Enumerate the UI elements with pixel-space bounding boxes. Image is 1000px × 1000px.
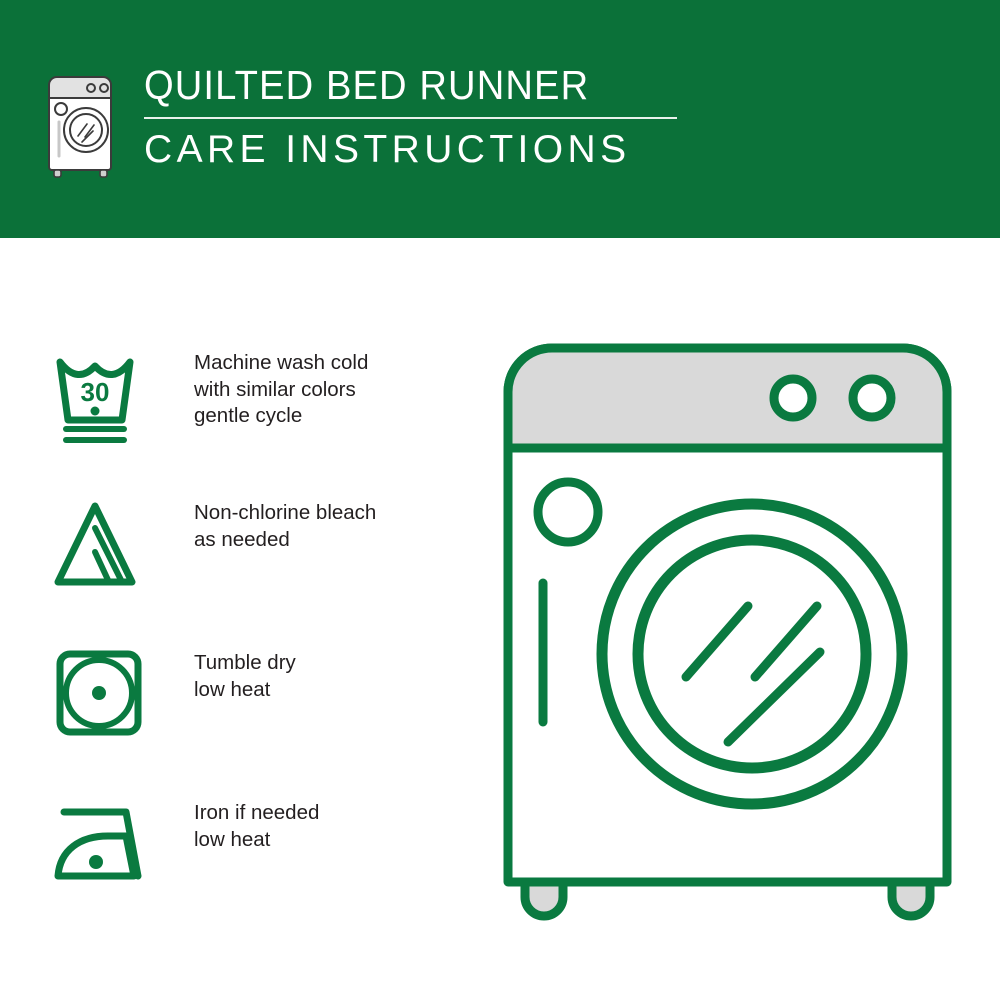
care-line: low heat xyxy=(194,827,319,854)
page-subtitle: CARE INSTRUCTIONS xyxy=(144,128,677,172)
indicator-light xyxy=(538,482,598,542)
care-line: Non-chlorine bleach xyxy=(194,500,376,527)
care-line: Tumble dry xyxy=(194,650,296,677)
header-title-group: QUILTED BED RUNNER CARE INSTRUCTIONS xyxy=(144,62,677,172)
wash-temperature-label: 30 xyxy=(81,377,110,407)
page-title: QUILTED BED RUNNER xyxy=(144,62,640,108)
care-line: low heat xyxy=(194,677,296,704)
care-text-wash: Machine wash cold with similar colors ge… xyxy=(162,338,368,430)
care-instruction-list: 30 Machine wash cold with similar colors… xyxy=(50,338,470,938)
title-divider xyxy=(144,117,677,119)
care-text-iron: Iron if needed low heat xyxy=(162,788,319,853)
care-text-tumble-dry: Tumble dry low heat xyxy=(162,638,296,703)
washing-machine-icon xyxy=(44,66,122,178)
header-content: QUILTED BED RUNNER CARE INSTRUCTIONS xyxy=(44,62,677,178)
care-row-bleach: Non-chlorine bleach as needed xyxy=(50,488,470,638)
control-knob xyxy=(774,379,812,417)
tumble-dry-icon xyxy=(50,638,162,748)
care-line: with similar colors xyxy=(194,377,368,404)
care-line: as needed xyxy=(194,527,376,554)
care-row-wash: 30 Machine wash cold with similar colors… xyxy=(50,338,470,488)
care-row-iron: Iron if needed low heat xyxy=(50,788,470,938)
bleach-triangle-icon xyxy=(50,488,162,598)
care-text-bleach: Non-chlorine bleach as needed xyxy=(162,488,376,553)
front-load-washing-machine-illustration xyxy=(490,330,970,930)
care-line: Machine wash cold xyxy=(194,350,368,377)
header-banner: QUILTED BED RUNNER CARE INSTRUCTIONS xyxy=(0,0,1000,238)
iron-icon xyxy=(50,788,162,898)
wash-tub-icon: 30 xyxy=(50,338,162,448)
care-line: gentle cycle xyxy=(194,403,368,430)
care-row-tumble-dry: Tumble dry low heat xyxy=(50,638,470,788)
control-knob xyxy=(853,379,891,417)
care-line: Iron if needed xyxy=(194,800,319,827)
drum-ring xyxy=(638,540,866,768)
